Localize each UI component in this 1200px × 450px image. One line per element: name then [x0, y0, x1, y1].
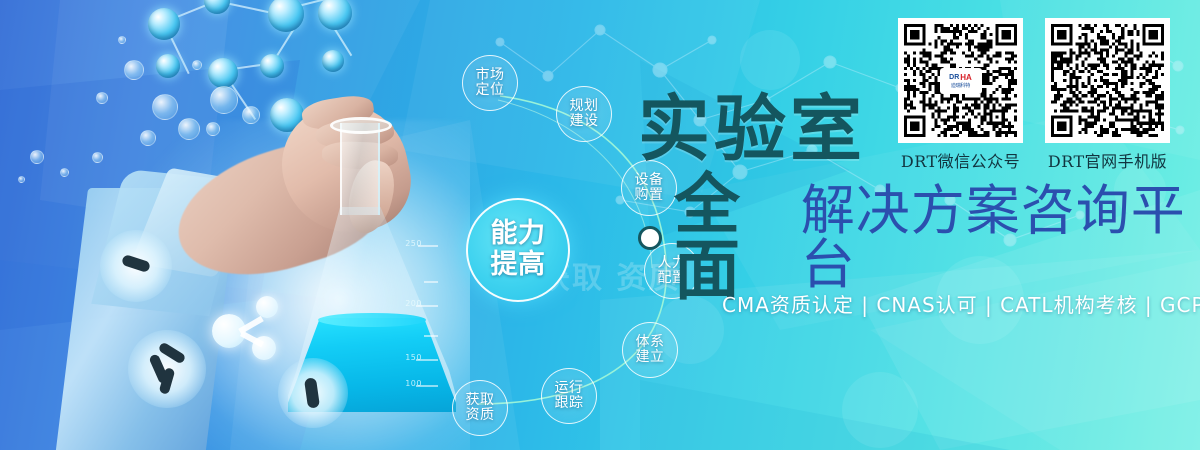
- process-node-market[interactable]: 市场 定位: [462, 55, 518, 111]
- qr-block-mobile-site[interactable]: DRT官网手机版: [1045, 18, 1170, 172]
- qr-code-area: DR HA 迪瑞科特 DRT微信公众号 DRT官网手机版: [898, 18, 1170, 172]
- qr-code-image-wechat[interactable]: DR HA 迪瑞科特: [898, 18, 1023, 143]
- logo-mark-blue: DR: [949, 74, 959, 81]
- qr-code-image-mobile-site[interactable]: [1045, 18, 1170, 143]
- qr-caption-mobile-site: DRT官网手机版: [1048, 148, 1167, 172]
- logo-mark-red: HA: [960, 73, 972, 82]
- subtitle-thin: 解决方案咨询平台: [801, 184, 1198, 292]
- bullet-dot-icon: [638, 226, 662, 250]
- process-node-system[interactable]: 体系 建立: [622, 322, 678, 378]
- brand-logo-icon: DR HA 迪瑞科特: [941, 69, 981, 93]
- certifications-line: CMA资质认定 | CNAS认可 | CATL机构考核 | GCP认证 | 6S…: [722, 289, 1200, 318]
- qr-caption-wechat: DRT微信公众号: [901, 148, 1020, 172]
- logo-text-cn: 迪瑞科特: [951, 82, 970, 89]
- subtitle-bold: 全面: [674, 172, 797, 304]
- promo-banner: 250 200 150 100: [0, 0, 1200, 450]
- qr-block-wechat[interactable]: DR HA 迪瑞科特 DRT微信公众号: [898, 18, 1023, 172]
- process-node-capability[interactable]: 能力 提高: [466, 198, 570, 302]
- process-node-license[interactable]: 获取 资质: [452, 380, 508, 436]
- process-node-planning[interactable]: 规划 建设: [556, 86, 612, 142]
- process-node-tracking[interactable]: 运行 跟踪: [541, 368, 597, 424]
